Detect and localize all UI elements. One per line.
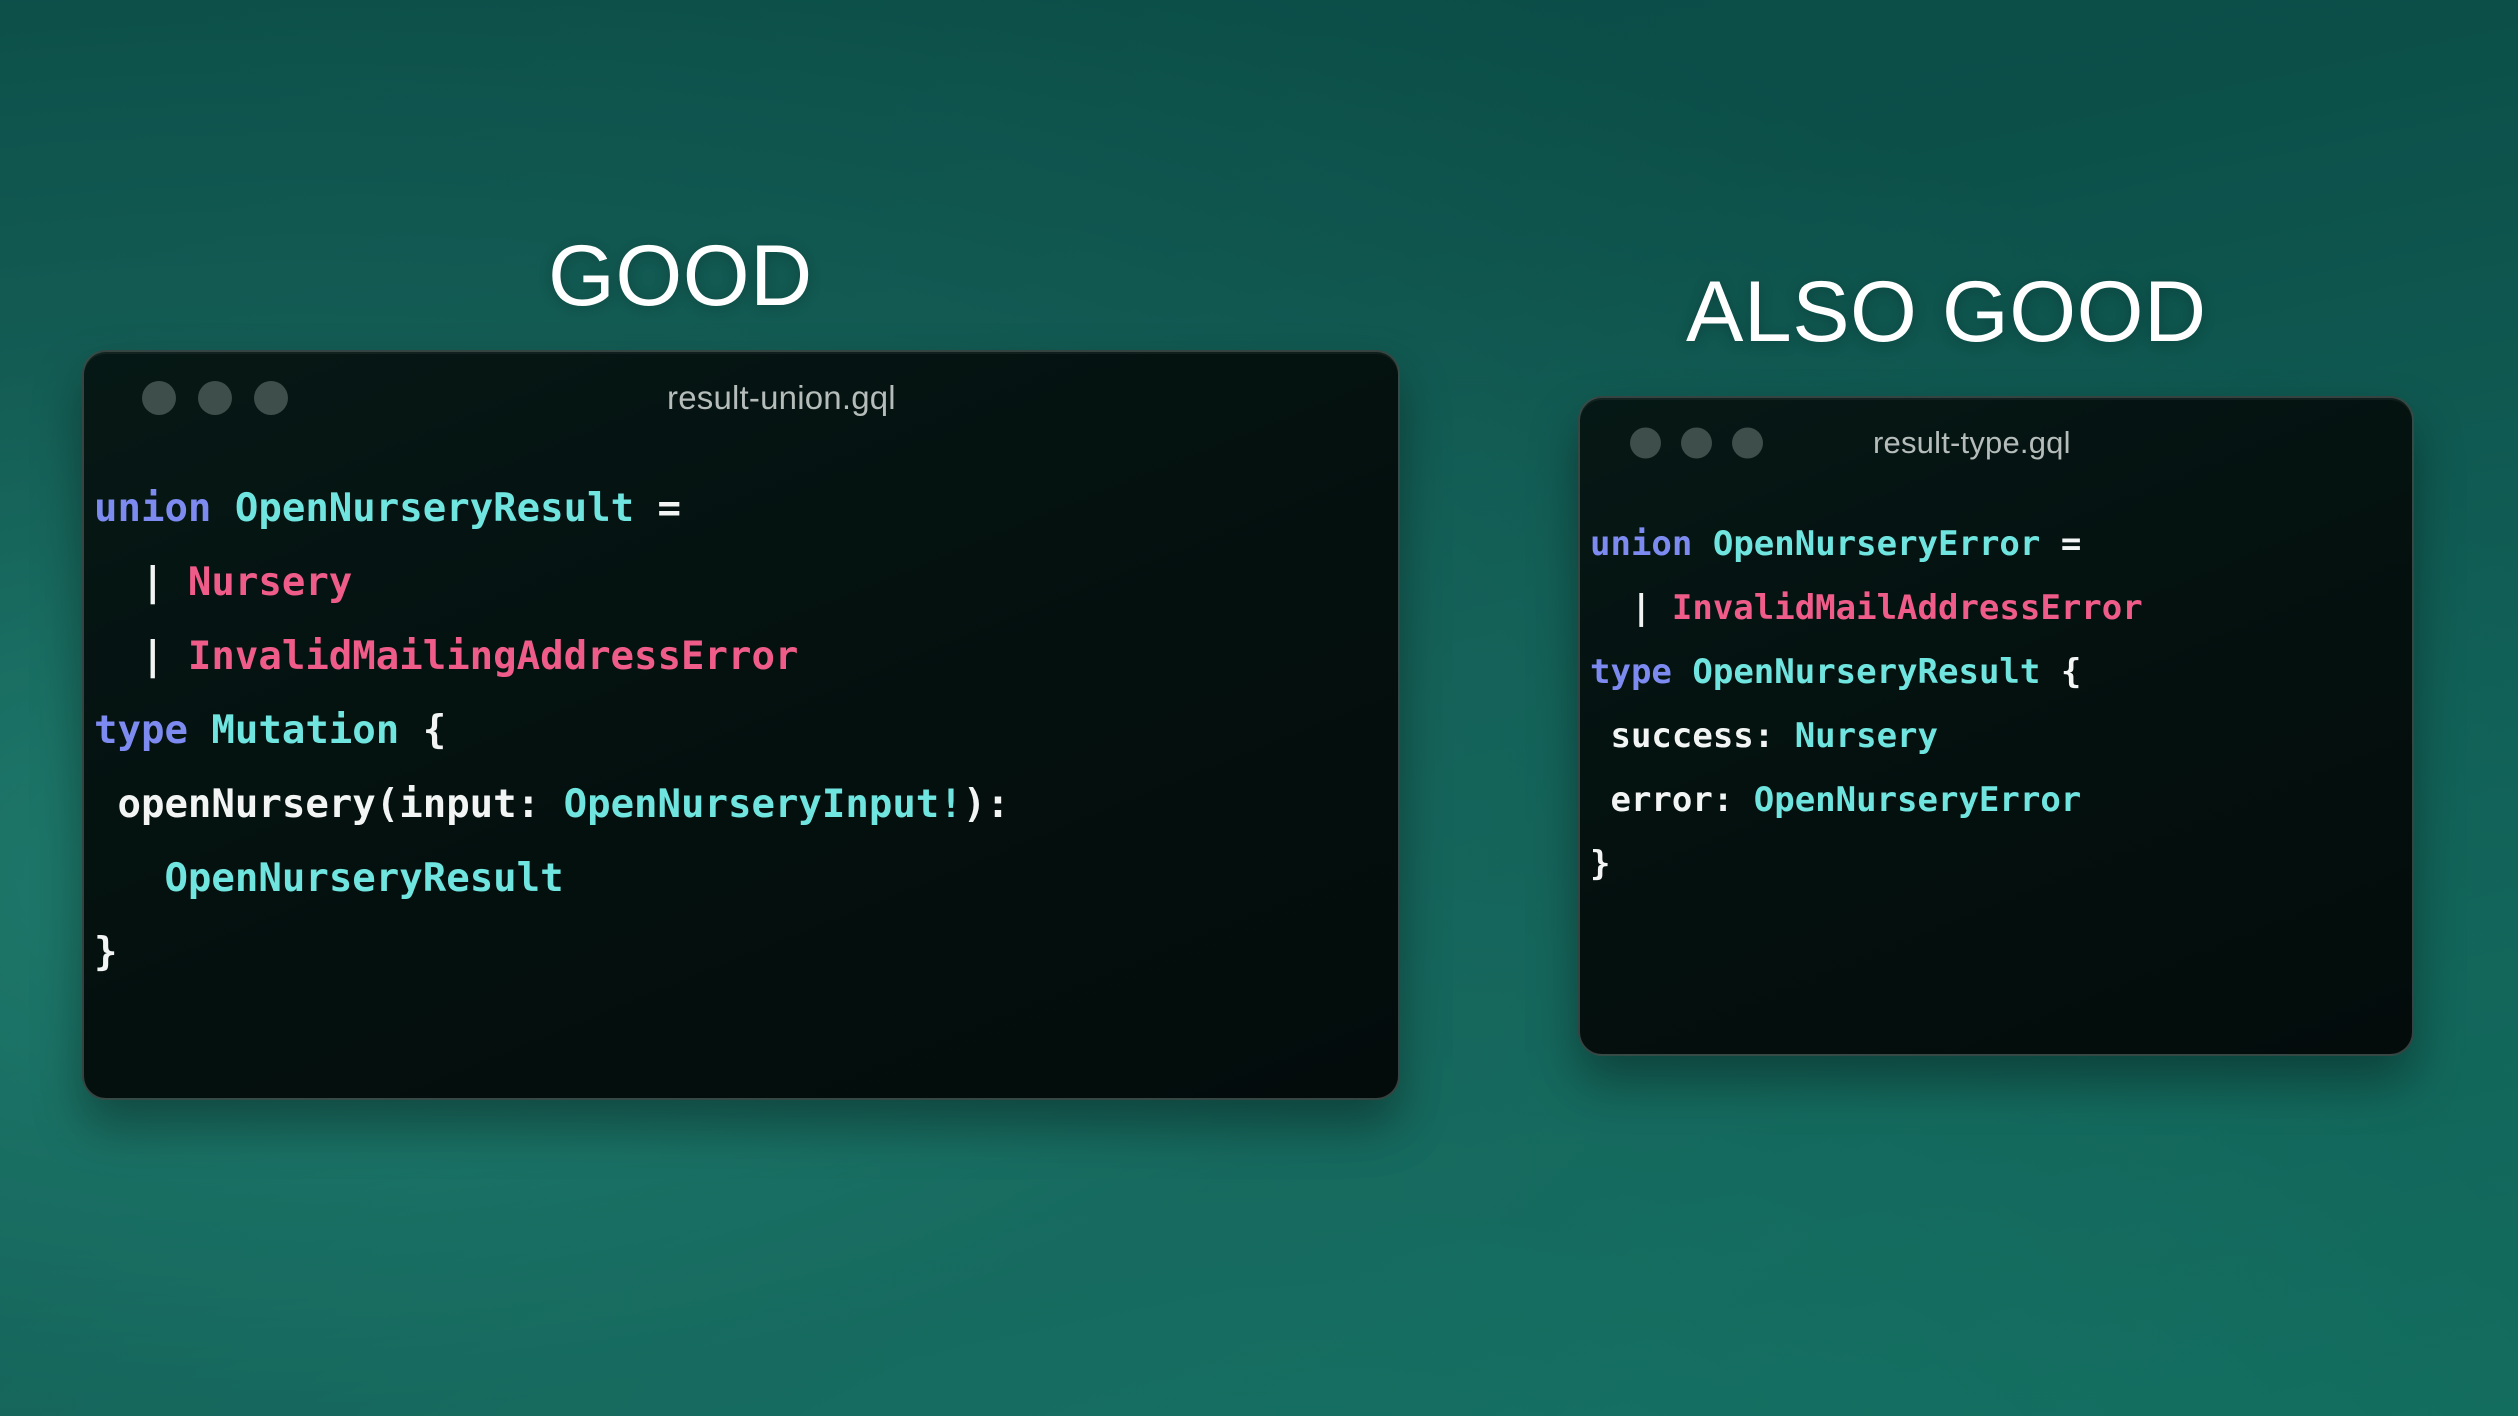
code-token-error_type: InvalidMailAddressError — [1672, 588, 2143, 628]
code-line: union OpenNurseryError = — [1586, 512, 2412, 576]
code-token-plain: = — [634, 486, 681, 531]
code-token-keyword: type — [1590, 652, 1672, 692]
maximize-dot-icon[interactable] — [1732, 428, 1763, 459]
code-token-plain: = — [2040, 524, 2081, 564]
close-dot-icon[interactable] — [1630, 428, 1661, 459]
code-token-plain: } — [1590, 844, 1610, 884]
slide-stage: GOOD ALSO GOOD result-union.gql union Op… — [0, 0, 2518, 1416]
code-block-good: union OpenNurseryResult = | Nursery | In… — [84, 444, 1398, 990]
code-token-plain: ): — [963, 782, 1010, 827]
code-token-keyword: type — [94, 708, 188, 753]
code-card-titlebar: result-union.gql — [84, 352, 1398, 444]
code-line: error: OpenNurseryError — [1586, 768, 2412, 832]
code-token-type: OpenNurseryError — [1713, 524, 2041, 564]
code-token-error_type: Nursery — [188, 560, 352, 605]
code-line: type OpenNurseryResult { — [1586, 640, 2412, 704]
code-token-type: Mutation — [211, 708, 399, 753]
code-token-type: OpenNurseryResult — [164, 856, 563, 901]
maximize-dot-icon[interactable] — [254, 381, 288, 415]
code-card-good: result-union.gql union OpenNurseryResult… — [82, 350, 1400, 1100]
code-token-plain: | — [94, 560, 188, 605]
code-token-plain: error: — [1590, 780, 1754, 820]
code-line: } — [1586, 832, 2412, 896]
code-line: success: Nursery — [1586, 704, 2412, 768]
code-token-plain — [94, 856, 164, 901]
window-controls — [1630, 428, 1763, 459]
code-token-type: OpenNurseryResult — [1692, 652, 2040, 692]
code-token-error_type: InvalidMailingAddressError — [188, 634, 798, 679]
minimize-dot-icon[interactable] — [198, 381, 232, 415]
code-card-titlebar: result-type.gql — [1580, 398, 2412, 488]
code-block-also-good: union OpenNurseryError = | InvalidMailAd… — [1580, 488, 2412, 896]
code-token-plain: { — [2040, 652, 2081, 692]
code-token-plain — [211, 486, 234, 531]
code-token-plain: } — [94, 930, 117, 975]
code-line: | Nursery — [90, 546, 1398, 620]
close-dot-icon[interactable] — [142, 381, 176, 415]
code-token-type: OpenNurseryError — [1754, 780, 2082, 820]
code-token-plain: | — [1590, 588, 1672, 628]
code-line: } — [90, 916, 1398, 990]
code-token-plain — [188, 708, 211, 753]
code-token-plain: { — [399, 708, 446, 753]
code-token-plain — [1692, 524, 1712, 564]
code-token-keyword: union — [94, 486, 211, 531]
code-line: openNursery(input: OpenNurseryInput!): — [90, 768, 1398, 842]
code-line: | InvalidMailAddressError — [1586, 576, 2412, 640]
minimize-dot-icon[interactable] — [1681, 428, 1712, 459]
code-token-type: ! — [939, 782, 962, 827]
heading-good: GOOD — [548, 227, 813, 326]
code-card-filename: result-type.gql — [1873, 425, 2071, 461]
code-token-type: OpenNurseryResult — [235, 486, 634, 531]
code-line: type Mutation { — [90, 694, 1398, 768]
code-card-filename: result-union.gql — [667, 379, 896, 417]
code-line: OpenNurseryResult — [90, 842, 1398, 916]
code-token-type: Nursery — [1795, 716, 1938, 756]
code-token-plain: | — [94, 634, 188, 679]
heading-also-good: ALSO GOOD — [1686, 263, 2207, 362]
code-token-type: OpenNurseryInput — [564, 782, 940, 827]
code-line: | InvalidMailingAddressError — [90, 620, 1398, 694]
code-token-plain — [1672, 652, 1692, 692]
code-card-also-good: result-type.gql union OpenNurseryError =… — [1578, 396, 2414, 1056]
code-token-keyword: union — [1590, 524, 1692, 564]
code-token-plain: openNursery(input: — [94, 782, 564, 827]
window-controls — [142, 381, 288, 415]
code-token-plain: success: — [1590, 716, 1795, 756]
code-line: union OpenNurseryResult = — [90, 472, 1398, 546]
